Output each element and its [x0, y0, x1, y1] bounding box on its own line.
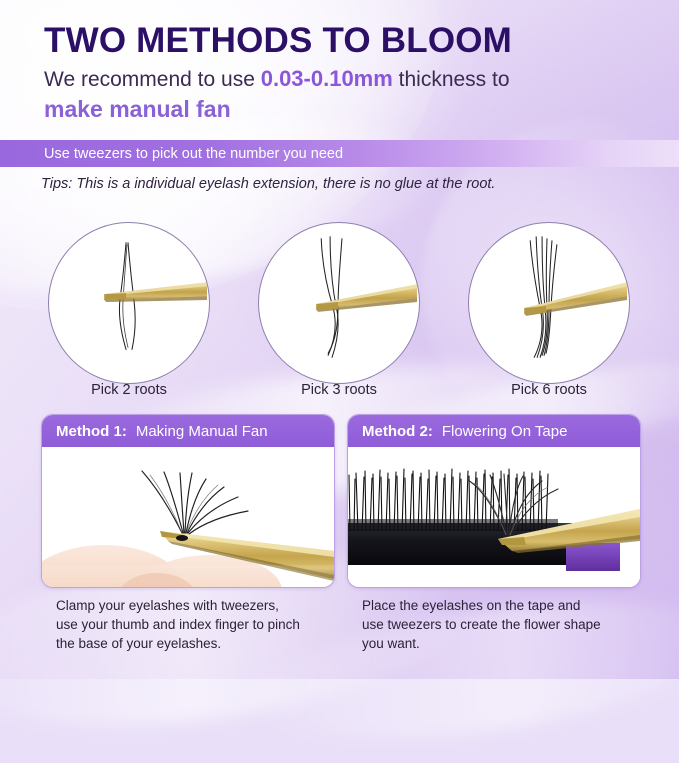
method-title: Making Manual Fan	[136, 423, 268, 440]
method-card: Method 1: Making Manual Fan	[41, 414, 335, 588]
page-title: TWO METHODS TO BLOOM	[44, 22, 659, 59]
pick-roots-label: Pick 2 roots	[34, 382, 224, 398]
instruction-banner: Use tweezers to pick out the number you …	[0, 140, 679, 167]
subtitle-prefix: We recommend to use	[44, 68, 261, 91]
subtitle-suffix: thickness to	[393, 68, 510, 91]
lash-strip-on-tape-photo	[348, 447, 640, 588]
method-title: Flowering On Tape	[442, 423, 568, 440]
subtitle-line-2: make manual fan	[44, 96, 659, 124]
method-card-header: Method 1: Making Manual Fan	[42, 415, 334, 447]
infographic-content: TWO METHODS TO BLOOM We recommend to use…	[0, 0, 679, 679]
pick-roots-row: Pick 2 roots	[0, 222, 679, 384]
subtitle-accent-thickness: 0.03-0.10mm	[261, 66, 393, 91]
method-card-header: Method 2: Flowering On Tape	[348, 415, 640, 447]
pick-roots-label: Pick 6 roots	[454, 382, 644, 398]
heading-block: TWO METHODS TO BLOOM We recommend to use…	[44, 22, 659, 124]
pick-roots-cell	[468, 222, 630, 384]
tips-text: Tips: This is a individual eyelash exten…	[41, 176, 495, 192]
method-caption: Place the eyelashes on the tape and use …	[362, 596, 652, 653]
method-card: Method 2: Flowering On Tape	[347, 414, 641, 588]
pick-roots-cell	[48, 222, 210, 384]
tweezers-with-lashes-icon	[259, 223, 419, 383]
pick-roots-cell	[258, 222, 420, 384]
circle-frame	[48, 222, 210, 384]
pick-roots-label: Pick 3 roots	[244, 382, 434, 398]
method-caption: Clamp your eyelashes with tweezers, use …	[56, 596, 346, 653]
tweezers-with-lashes-icon	[49, 223, 209, 383]
fingers-pinching-lash-fan-photo	[42, 447, 334, 588]
method-number-label: Method 2:	[362, 423, 433, 440]
tweezers-with-lashes-icon	[469, 223, 629, 383]
instruction-banner-text: Use tweezers to pick out the number you …	[44, 146, 343, 162]
method-number-label: Method 1:	[56, 423, 127, 440]
method-1-illustration	[42, 447, 334, 588]
subtitle-line-1: We recommend to use 0.03-0.10mm thicknes…	[44, 66, 659, 92]
circle-frame	[468, 222, 630, 384]
circle-frame	[258, 222, 420, 384]
method-2-illustration	[348, 447, 640, 588]
